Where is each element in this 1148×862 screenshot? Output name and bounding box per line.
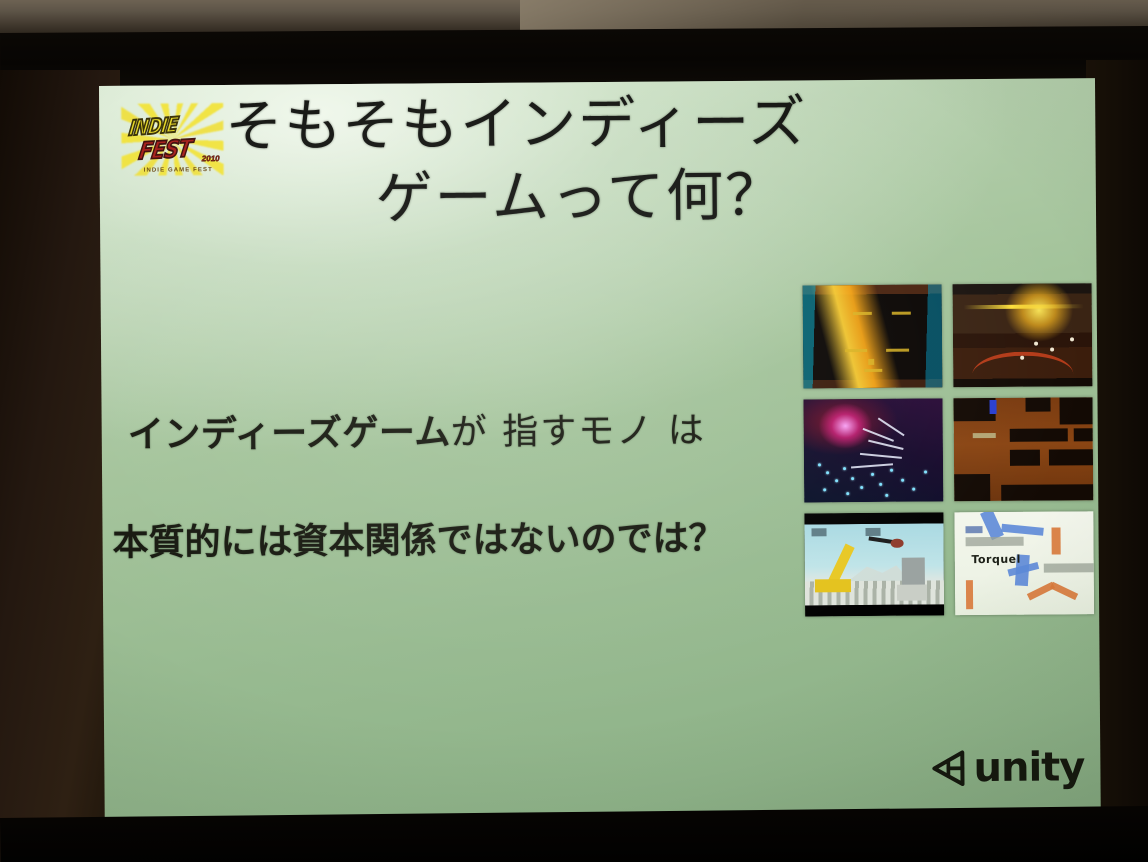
logo-year: 2010 (202, 154, 220, 163)
game-screenshot-3-art (803, 398, 943, 502)
body-line-1: インディーズゲームが 指すモノ は (128, 400, 810, 457)
game-screenshot-2 (953, 283, 1093, 387)
indie-game-fest-logo: INDIE FEST 2010 INDIE GAME FEST (119, 101, 226, 184)
game-screenshot-grid: Torquel (803, 283, 1096, 620)
game-screenshot-1-art (803, 284, 943, 388)
game-screenshot-5-art (804, 512, 944, 616)
unity-cube-icon (927, 747, 969, 789)
slide-body: インディーズゲームが 指すモノ は 本質的には資本関係ではないのでは？ (110, 400, 811, 565)
slide-title-line-1: そもそもインディーズ (219, 85, 980, 164)
game-screenshot-6-caption: Torquel (971, 553, 1021, 566)
projected-slide: INDIE FEST 2010 INDIE GAME FEST そもそもインディ… (99, 78, 1101, 824)
unity-logo: unity (927, 746, 1084, 789)
body-line-2: 本質的には資本関係ではないのでは？ (112, 508, 810, 565)
room-photograph: INDIE FEST 2010 INDIE GAME FEST そもそもインディ… (0, 0, 1148, 862)
slide-title: そもそもインディーズ ゲームって何？ (219, 85, 980, 237)
game-screenshot-2-art (953, 283, 1093, 387)
game-screenshot-1 (803, 284, 943, 388)
logo-subtitle: INDIE GAME FEST (144, 167, 213, 174)
game-screenshot-6-art: Torquel (954, 511, 1094, 615)
logo-word-bottom: FEST (137, 136, 193, 163)
game-screenshot-6: Torquel (954, 511, 1094, 615)
game-screenshot-3 (803, 398, 943, 502)
unity-wordmark: unity (973, 747, 1084, 788)
body-line-1-strong: インディーズゲーム (128, 412, 451, 456)
game-screenshot-5 (804, 512, 944, 616)
body-line-1-normal: が 指すモノ は (451, 410, 706, 453)
game-screenshot-4 (953, 397, 1093, 501)
slide-title-line-2: ゲームって何？ (220, 158, 981, 237)
game-screenshot-4-art (953, 397, 1093, 501)
